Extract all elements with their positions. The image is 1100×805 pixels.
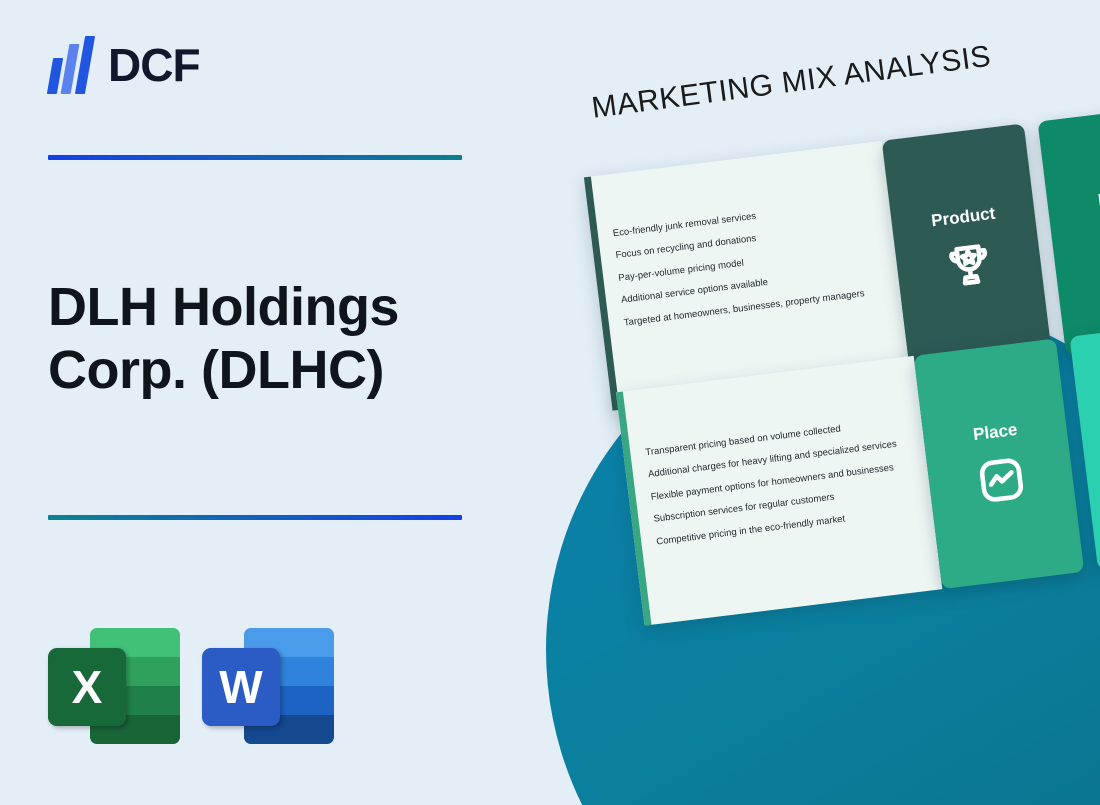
download-format-icons: X W <box>48 620 334 752</box>
word-file-icon[interactable]: W <box>202 620 334 752</box>
activity-square-icon <box>972 451 1030 509</box>
mix-card-place[interactable]: Place <box>914 338 1085 589</box>
place-facts-card: Transparent pricing based on volume coll… <box>616 356 942 626</box>
place-facts-wrapper: Transparent pricing based on volume coll… <box>616 356 942 626</box>
brand-logo[interactable]: DCF <box>48 36 200 94</box>
excel-file-icon[interactable]: X <box>48 620 180 752</box>
left-panel: DCF DLH Holdings Corp. (DLHC) X W <box>0 0 540 805</box>
marketing-mix-heading: MARKETING MIX ANALYSIS <box>590 31 1060 126</box>
marketing-mix-graphic: MARKETING MIX ANALYSIS Eco-friendly junk… <box>540 0 1100 805</box>
link-icon <box>1096 217 1100 275</box>
word-badge: W <box>202 648 280 726</box>
mix-card-place-label: Place <box>972 419 1019 444</box>
brand-name: DCF <box>108 42 200 88</box>
place-bullet-list: Transparent pricing based on volume coll… <box>616 356 934 560</box>
dcf-bars-logo-icon <box>48 36 100 94</box>
mix-card-product-label: Product <box>930 203 996 231</box>
trophy-icon <box>940 236 998 294</box>
divider-bottom <box>48 515 462 520</box>
mix-card-product[interactable]: Product <box>882 123 1053 374</box>
product-bullet-list: Eco-friendly junk removal services Focus… <box>584 141 902 341</box>
page-title: DLH Holdings Corp. (DLHC) <box>48 276 478 402</box>
excel-badge: X <box>48 648 126 726</box>
divider-top <box>48 155 462 160</box>
